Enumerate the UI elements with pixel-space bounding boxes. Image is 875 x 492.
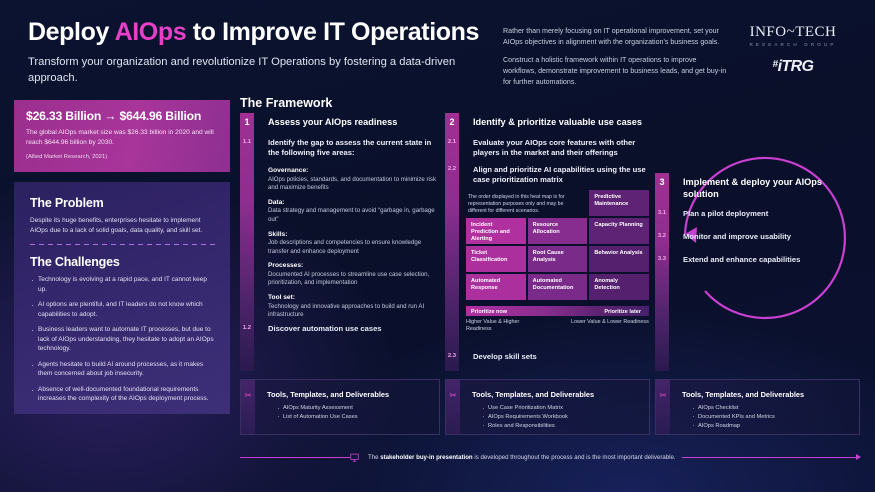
step-3-title: Implement & deploy your AIOps solution: [683, 177, 833, 200]
problem-challenges-card: The Problem Despite its huge benefits, e…: [14, 182, 230, 414]
deliverables-1-accent-bar: [241, 380, 255, 434]
legend-right-label: Prioritize later: [599, 306, 649, 316]
step-3-item-1-number: 3.1: [655, 210, 669, 216]
step-3-item-2-label: Monitor and improve usability: [683, 232, 851, 242]
heatmap-note: The order displayed in this heat map is …: [466, 190, 587, 216]
step-2-item-1-number: 2.1: [445, 139, 459, 145]
list-item: AIOps Requirements Workbook: [482, 413, 568, 422]
deliverables-3-title: Tools, Templates, and Deliverables: [682, 390, 804, 399]
step-3-item-3-label: Extend and enhance capabilities: [683, 255, 851, 265]
heatmap-cell[interactable]: Capacity Planning: [589, 218, 649, 244]
heatmap-cell[interactable]: Behavior Analysis: [589, 246, 649, 272]
area-name: Skills:: [268, 231, 440, 238]
deliverables-3-list: AIOps Checklist Documented KPIs and Metr…: [692, 404, 775, 430]
market-body: The global AIOps market size was $26.33 …: [26, 128, 218, 147]
presentation-screen-icon: [350, 453, 359, 462]
page-title: Deploy AIOps to Improve IT Operations: [28, 18, 498, 46]
heatmap-legend-sublabels: Higher Value & Higher Readiness Lower Va…: [466, 319, 649, 334]
step-2-item-2-number: 2.2: [445, 166, 459, 172]
footer-line-right-arrow: [682, 457, 860, 458]
area-desc: Documented AI processes to streamline us…: [268, 271, 440, 288]
header-intro-text: Rather than merely focusing on IT operat…: [503, 26, 731, 87]
area-desc: Technology and innovative approaches to …: [268, 303, 440, 320]
deliverables-2-title: Tools, Templates, and Deliverables: [472, 390, 594, 399]
intro-paragraph-2: Construct a holistic framework within IT…: [503, 55, 731, 87]
heatmap-cell[interactable]: Automated Documentation: [528, 274, 588, 300]
area-name: Data:: [268, 199, 440, 206]
step-3-number: 3: [655, 177, 669, 187]
list-item: AI options are plentiful, and IT leaders…: [30, 300, 216, 319]
list-item: Agents hesitate to build AI around proce…: [30, 360, 216, 379]
title-pre: Deploy: [28, 18, 115, 46]
step-2-accent-bar: [445, 113, 459, 371]
challenges-list: Technology is evolving at a rapid pace, …: [30, 275, 216, 403]
legend-right-sublabel: Lower Value & Lower Readiness: [571, 319, 649, 334]
step-3-item-3-number: 3.3: [655, 256, 669, 262]
heatmap-legend-bar: Prioritize now Prioritize later: [466, 306, 649, 316]
deliverables-1-list: AIOps Maturity Assessment List of Automa…: [277, 404, 358, 422]
step-3-item-1-label: Plan a pilot deployment: [683, 209, 851, 219]
step-2-item-3-number: 2.3: [445, 353, 459, 359]
heatmap-cell[interactable]: Ticket Classification: [466, 246, 526, 272]
problem-body: Despite its huge benefits, enterprises h…: [30, 216, 216, 235]
title-post: to Improve IT Operations: [186, 18, 479, 46]
area-desc: Data strategy and management to avoid “g…: [268, 207, 440, 224]
footer-pre: The: [368, 454, 380, 461]
list-item: Use Case Prioritization Matrix: [482, 404, 568, 413]
footer-line-left: [240, 457, 350, 458]
deliverables-2-accent-bar: [446, 380, 460, 434]
market-headline: $26.33 Billion → $644.96 Billion: [26, 109, 218, 123]
divider: [30, 244, 216, 245]
tools-icon: ✂: [447, 390, 459, 401]
footer-post: is developed throughout the process and …: [473, 454, 676, 461]
heatmap-cell[interactable]: Resource Allocation: [528, 218, 588, 244]
list-item: List of Automation Use Cases: [277, 413, 358, 422]
deliverables-1-title: Tools, Templates, and Deliverables: [267, 390, 389, 399]
step-1-item-2-label: Discover automation use cases: [268, 324, 436, 334]
logo-group: INFO~TECH RESEARCH GROUP #iTRG: [733, 24, 853, 76]
market-source: (Allied Market Research, 2021): [26, 154, 218, 160]
legend-left-sublabel: Higher Value & Higher Readiness: [466, 319, 546, 334]
intro-paragraph-1: Rather than merely focusing on IT operat…: [503, 26, 731, 47]
framework-step-3: 3 Implement & deploy your AIOps solution…: [655, 173, 855, 253]
area-desc: Job descriptions and competencies to ens…: [268, 239, 440, 256]
problem-title: The Problem: [30, 196, 216, 210]
framework-step-2: 2 Identify & prioritize valuable use cas…: [445, 113, 650, 371]
step-2-item-1-label: Evaluate your AIOps core features with o…: [473, 138, 647, 159]
step-1-number: 1: [240, 117, 254, 127]
title-accent: AIOps: [115, 18, 187, 46]
area-name: Tool set:: [268, 294, 440, 301]
area-name: Governance:: [268, 167, 440, 174]
footer-text: The stakeholder buy-in presentation is d…: [362, 454, 682, 461]
list-item: Business leaders want to automate IT pro…: [30, 325, 216, 353]
footer-bold: stakeholder buy-in presentation: [380, 454, 472, 461]
list-item: Absence of well-documented foundational …: [30, 385, 216, 404]
list-item: Roles and Responsibilities: [482, 422, 568, 431]
use-case-heatmap: The order displayed in this heat map is …: [466, 190, 649, 300]
deliverables-2-list: Use Case Prioritization Matrix AIOps Req…: [482, 404, 568, 430]
step-1-item-2-number: 1.2: [240, 325, 254, 331]
tools-icon: ✂: [242, 390, 254, 401]
heatmap-cell[interactable]: Root Cause Analysis: [528, 246, 588, 272]
header: Deploy AIOps to Improve IT Operations Tr…: [28, 18, 498, 87]
heatmap-cell[interactable]: Predictive Maintenance: [589, 190, 649, 216]
heatmap-cell[interactable]: Incident Prediction and Alerting: [466, 218, 526, 244]
framework-step-1: 1 Assess your AIOps readiness 1.1 Identi…: [240, 113, 440, 371]
area-name: Processes:: [268, 262, 440, 269]
readiness-areas: Governance: AIOps policies, standards, a…: [268, 161, 440, 320]
tools-icon: ✂: [657, 390, 669, 401]
step-1-title: Assess your AIOps readiness: [268, 117, 436, 129]
area-desc: AIOps policies, standards, and documenta…: [268, 176, 440, 193]
legend-left-label: Prioritize now: [466, 306, 512, 316]
step-1-item-1-number: 1.1: [240, 139, 254, 145]
step-3-accent-bar: [655, 173, 669, 371]
step-3-item-2-number: 3.2: [655, 233, 669, 239]
deliverables-box-1: ✂ Tools, Templates, and Deliverables AIO…: [240, 379, 440, 435]
market-size-card: $26.33 Billion → $644.96 Billion The glo…: [14, 100, 230, 172]
footer-note: The stakeholder buy-in presentation is d…: [240, 449, 860, 465]
deliverables-3-accent-bar: [656, 380, 670, 434]
info-tech-logo: INFO~TECH: [733, 24, 853, 41]
list-item: AIOps Checklist: [692, 404, 775, 413]
itrg-logo: #iTRG: [733, 58, 853, 76]
list-item: AIOps Roadmap: [692, 422, 775, 431]
step-1-item-1-label: Identify the gap to assess the current s…: [268, 138, 436, 159]
infographic-root: Deploy AIOps to Improve IT Operations Tr…: [0, 0, 875, 492]
list-item: AIOps Maturity Assessment: [277, 404, 358, 413]
heatmap-cell[interactable]: Anomaly Detection: [589, 274, 649, 300]
step-1-accent-bar: [240, 113, 254, 371]
list-item: Technology is evolving at a rapid pace, …: [30, 275, 216, 294]
info-tech-logo-subtitle: RESEARCH GROUP: [733, 42, 853, 47]
step-2-item-3-label: Develop skill sets: [473, 352, 647, 362]
itrg-text: iTRG: [778, 58, 814, 75]
deliverables-box-2: ✂ Tools, Templates, and Deliverables Use…: [445, 379, 650, 435]
page-subtitle: Transform your organization and revoluti…: [28, 55, 498, 87]
step-2-item-2-label: Align and prioritize AI capabilities usi…: [473, 165, 647, 186]
deliverables-box-3: ✂ Tools, Templates, and Deliverables AIO…: [655, 379, 860, 435]
framework-title: The Framework: [240, 96, 332, 110]
list-item: Documented KPIs and Metrics: [692, 413, 775, 422]
step-2-title: Identify & prioritize valuable use cases: [473, 117, 649, 129]
step-2-number: 2: [445, 117, 459, 127]
challenges-title: The Challenges: [30, 255, 216, 269]
heatmap-cell[interactable]: Automated Response: [466, 274, 526, 300]
